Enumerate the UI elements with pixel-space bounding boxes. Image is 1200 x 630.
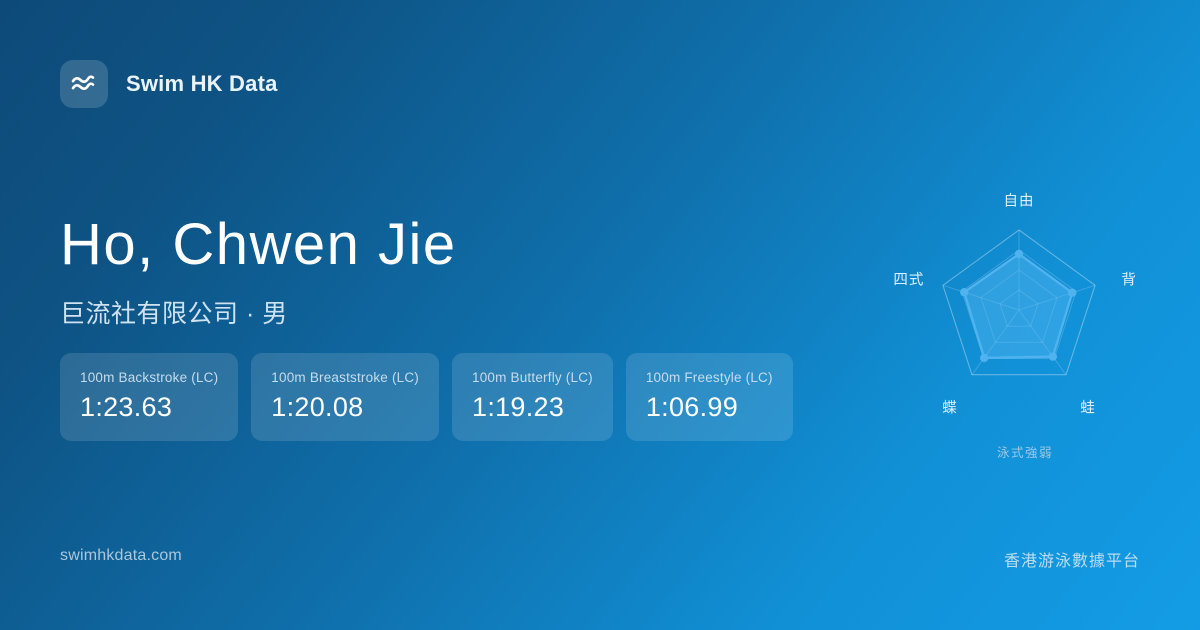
stat-label: 100m Freestyle (LC) — [646, 370, 773, 385]
radar-axis-label-backstroke: 背 — [1121, 269, 1137, 290]
brand-header[interactable]: Swim HK Data — [60, 60, 278, 108]
stat-card[interactable]: 100m Breaststroke (LC) 1:20.08 — [251, 353, 439, 441]
stat-card-list: 100m Backstroke (LC) 1:23.63 100m Breast… — [60, 353, 793, 441]
radar-axis-label-medley: 四式 — [893, 269, 924, 290]
stat-label: 100m Breaststroke (LC) — [271, 370, 419, 385]
stat-card[interactable]: 100m Backstroke (LC) 1:23.63 — [60, 353, 238, 441]
radar-axis-label-freestyle: 自由 — [1004, 190, 1035, 211]
athlete-meta: 巨流社有限公司 · 男 — [60, 294, 457, 330]
radar-axis-label-butterfly: 蝶 — [942, 396, 958, 417]
footer-site-url[interactable]: swimhkdata.com — [60, 547, 182, 565]
stat-card[interactable]: 100m Freestyle (LC) 1:06.99 — [626, 353, 793, 441]
hero-block: Ho, Chwen Jie 巨流社有限公司 · 男 — [60, 215, 457, 330]
stat-label: 100m Backstroke (LC) — [80, 370, 218, 385]
stat-value: 1:19.23 — [472, 392, 593, 423]
radar-chart-svg — [880, 170, 1170, 470]
page-title: Ho, Chwen Jie — [60, 215, 457, 276]
stat-value: 1:20.08 — [271, 392, 419, 423]
app-logo — [60, 60, 108, 108]
radar-chart: 自由 背 蛙 蝶 四式 泳式強弱 — [880, 170, 1170, 470]
footer-tagline: 香港游泳數據平台 — [1004, 547, 1140, 571]
radar-caption: 泳式強弱 — [880, 442, 1170, 461]
brand-name: Swim HK Data — [126, 71, 278, 97]
radar-axis-label-breaststroke: 蛙 — [1080, 396, 1096, 417]
stat-value: 1:06.99 — [646, 392, 773, 423]
stat-value: 1:23.63 — [80, 392, 218, 423]
stat-card[interactable]: 100m Butterfly (LC) 1:19.23 — [452, 353, 613, 441]
stat-label: 100m Butterfly (LC) — [472, 370, 593, 385]
wave-icon — [70, 74, 98, 94]
